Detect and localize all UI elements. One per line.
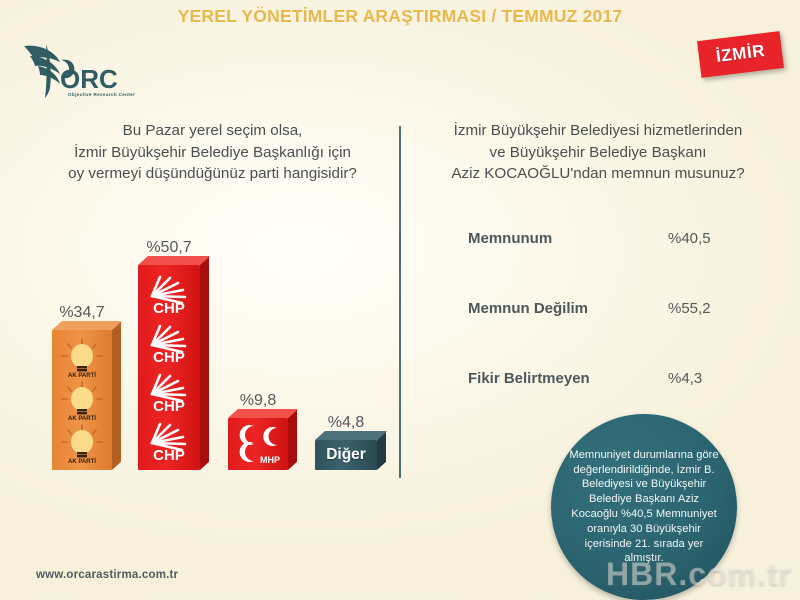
bar-akparti: %34,7 AK PARTİ	[52, 330, 112, 470]
svg-text:CHP: CHP	[153, 349, 185, 365]
bar-side-face-chp	[200, 257, 209, 470]
six-arrows-icon: CHP	[140, 274, 198, 316]
svg-text:AK PARTİ: AK PARTİ	[68, 458, 96, 464]
bar-side-face-akparti	[112, 322, 121, 470]
bar-chp: %50,7 CHP	[138, 265, 200, 470]
satisfaction-value: %40,5	[668, 230, 711, 247]
bar-body-diger: Diğer	[315, 440, 377, 470]
satisfaction-label: Memnunum	[468, 230, 552, 247]
six-arrows-icon: CHP	[140, 421, 198, 463]
svg-text:CHP: CHP	[153, 398, 185, 414]
bar-top-face-chp	[138, 256, 210, 265]
note-circle-text: Memnuniyet durumlarına göre değerlendiri…	[551, 448, 737, 566]
question-right-line-2: ve Büyükşehir Belediye Başkanı	[412, 142, 784, 164]
bar-side-face-diger	[377, 432, 386, 470]
bar-body-mhp: MHP	[228, 418, 288, 470]
six-arrows-icon: CHP	[140, 323, 198, 365]
six-arrows-icon: CHP	[140, 372, 198, 414]
satisfaction-label: Memnun Değilim	[468, 300, 588, 317]
bar-label-chp: %50,7	[138, 239, 200, 257]
svg-text:MHP: MHP	[260, 455, 280, 465]
mhp-logo-stack: MHP	[228, 418, 288, 470]
bar-label-akparti: %34,7	[52, 304, 112, 322]
question-right: İzmir Büyükşehir Belediyesi hizmetlerind…	[412, 120, 784, 185]
bar-side-face-mhp	[288, 410, 297, 470]
lightbulb-icon: AK PARTİ	[59, 381, 105, 421]
bar-body-chp: CHP CHP	[138, 265, 200, 470]
lightbulb-icon: AK PARTİ	[59, 424, 105, 464]
lightbulb-icon: AK PARTİ	[59, 338, 105, 378]
svg-text:AK PARTİ: AK PARTİ	[68, 415, 96, 421]
satisfaction-value: %55,2	[668, 300, 711, 317]
footer-url: www.orcarastirma.com.tr	[36, 569, 178, 581]
chp-logo-stack: CHP CHP	[138, 265, 200, 470]
bar-body-akparti: AK PARTİ AK PARTİ	[52, 330, 112, 470]
svg-text:CHP: CHP	[153, 447, 185, 463]
svg-text:CHP: CHP	[153, 300, 185, 316]
satisfaction-value: %4,3	[668, 370, 702, 387]
svg-text:AK PARTİ: AK PARTİ	[68, 372, 96, 378]
city-tag-label: İZMİR	[715, 41, 766, 66]
note-circle: Memnuniyet durumlarına göre değerlendiri…	[551, 414, 737, 600]
party-vote-bar-chart: %34,7 AK PARTİ	[0, 0, 400, 599]
akparti-logo-stack: AK PARTİ AK PARTİ	[52, 330, 112, 470]
bar-diger: %4,8 Diğer	[315, 440, 377, 470]
bar-top-face-diger	[315, 431, 387, 440]
bar-text-diger: Diğer	[315, 440, 377, 470]
three-crescents-icon: MHP	[230, 421, 286, 472]
bar-label-mhp: %9,8	[228, 392, 288, 410]
satisfaction-label: Fikir Belirtmeyen	[468, 370, 590, 387]
city-tag: İZMİR	[697, 31, 784, 78]
bar-label-diger: %4,8	[315, 414, 377, 432]
question-right-line-1: İzmir Büyükşehir Belediyesi hizmetlerind…	[412, 120, 784, 142]
question-right-line-3: Aziz KOCAOĞLU'ndan memnun musunuz?	[412, 163, 784, 185]
bar-mhp: %9,8 MHP	[228, 418, 288, 470]
